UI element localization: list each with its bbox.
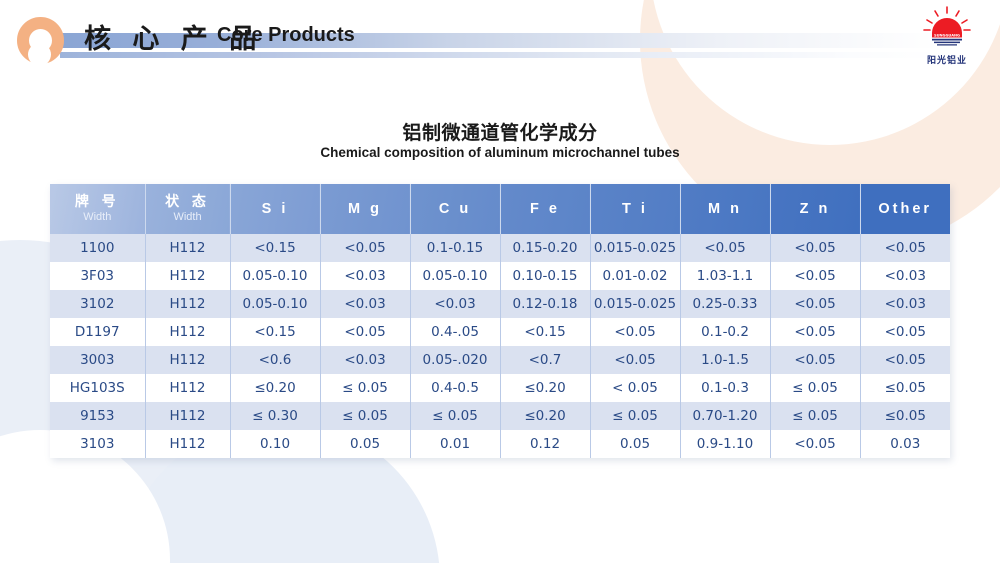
table-cell-si: 0.05-0.10 <box>230 290 320 318</box>
table-cell-other: <0.03 <box>860 290 950 318</box>
table-row: 9153H112≤ 0.30≤ 0.05≤ 0.05≤0.20≤ 0.050.7… <box>50 402 950 430</box>
table-cell-si: <0.15 <box>230 234 320 262</box>
table-cell-cu: 0.05-0.10 <box>410 262 500 290</box>
table-cell-si: ≤ 0.30 <box>230 402 320 430</box>
table-cell-zn: <0.05 <box>770 234 860 262</box>
ring-decoration-cutout <box>28 43 51 66</box>
table-row: HG103SH112≤0.20≤ 0.050.4-0.5≤0.20< 0.050… <box>50 374 950 402</box>
header-label-en: Width <box>50 212 145 224</box>
table-cell-ti: 0.015-0.025 <box>590 234 680 262</box>
composition-table-container: 牌 号Width状 态WidthS iM gC uF eT iM nZ nOth… <box>50 184 950 458</box>
table-cell-mg: <0.05 <box>320 234 410 262</box>
table-cell-ti: <0.05 <box>590 346 680 374</box>
table-cell-state: H112 <box>145 430 230 458</box>
table-cell-zn: ≤ 0.05 <box>770 402 860 430</box>
sun-dome-logo-icon: SUNGGUANG <box>915 6 979 52</box>
table-cell-zn: <0.05 <box>770 346 860 374</box>
table-cell-mg: <0.03 <box>320 262 410 290</box>
table-cell-brand: 3102 <box>50 290 145 318</box>
table-row: 3F03H1120.05-0.10<0.030.05-0.100.10-0.15… <box>50 262 950 290</box>
table-row: 1100H112<0.15<0.050.1-0.150.15-0.200.015… <box>50 234 950 262</box>
table-cell-ti: ≤ 0.05 <box>590 402 680 430</box>
table-cell-zn: <0.05 <box>770 318 860 346</box>
table-cell-mn: 0.1-0.3 <box>680 374 770 402</box>
table-row: 3003H112<0.6<0.030.05-.020<0.7<0.051.0-1… <box>50 346 950 374</box>
table-cell-mn: 0.9-1.10 <box>680 430 770 458</box>
table-cell-si: 0.05-0.10 <box>230 262 320 290</box>
table-cell-fe: 0.10-0.15 <box>500 262 590 290</box>
banner-title-en: Core Products <box>217 24 355 47</box>
table-header-row: 牌 号Width状 态WidthS iM gC uF eT iM nZ nOth… <box>50 184 950 234</box>
table-cell-fe: 0.12 <box>500 430 590 458</box>
table-cell-mn: 0.1-0.2 <box>680 318 770 346</box>
table-row: D1197H112<0.15<0.050.4-.05<0.15<0.050.1-… <box>50 318 950 346</box>
table-cell-mg: <0.05 <box>320 318 410 346</box>
table-cell-state: H112 <box>145 402 230 430</box>
table-header-cell-zn: Z n <box>770 184 860 234</box>
table-cell-mn: 1.0-1.5 <box>680 346 770 374</box>
table-cell-mn: 0.70-1.20 <box>680 402 770 430</box>
table-cell-zn: <0.05 <box>770 262 860 290</box>
table-cell-ti: < 0.05 <box>590 374 680 402</box>
table-header-cell-mn: M n <box>680 184 770 234</box>
table-cell-ti: 0.01-0.02 <box>590 262 680 290</box>
table-cell-mg: ≤ 0.05 <box>320 374 410 402</box>
table-cell-other: <0.05 <box>860 318 950 346</box>
page-title-cn: 铝制微通道管化学成分 <box>0 118 1000 145</box>
table-cell-state: H112 <box>145 234 230 262</box>
table-cell-other: ≤0.05 <box>860 374 950 402</box>
table-row: 3103H1120.100.050.010.120.050.9-1.10<0.0… <box>50 430 950 458</box>
table-cell-fe: <0.7 <box>500 346 590 374</box>
table-header-cell-mg: M g <box>320 184 410 234</box>
table-cell-brand: 9153 <box>50 402 145 430</box>
table-cell-si: ≤0.20 <box>230 374 320 402</box>
company-name-cn: 阳光铝业 <box>908 53 986 66</box>
table-cell-zn: <0.05 <box>770 430 860 458</box>
table-cell-other: <0.05 <box>860 346 950 374</box>
table-header-cell-state: 状 态Width <box>145 184 230 234</box>
table-cell-cu: 0.4-.05 <box>410 318 500 346</box>
table-cell-ti: <0.05 <box>590 318 680 346</box>
table-cell-si: <0.15 <box>230 318 320 346</box>
table-header-cell-brand: 牌 号Width <box>50 184 145 234</box>
table-cell-fe: 0.12-0.18 <box>500 290 590 318</box>
table-cell-brand: 3003 <box>50 346 145 374</box>
table-cell-si: 0.10 <box>230 430 320 458</box>
table-cell-cu: 0.1-0.15 <box>410 234 500 262</box>
header-label-en: Width <box>146 212 230 224</box>
table-cell-si: <0.6 <box>230 346 320 374</box>
table-body: 1100H112<0.15<0.050.1-0.150.15-0.200.015… <box>50 234 950 458</box>
table-row: 3102H1120.05-0.10<0.03<0.030.12-0.180.01… <box>50 290 950 318</box>
table-cell-state: H112 <box>145 262 230 290</box>
table-cell-mn: <0.05 <box>680 234 770 262</box>
table-cell-ti: 0.015-0.025 <box>590 290 680 318</box>
table-cell-other: ≤0.05 <box>860 402 950 430</box>
table-cell-state: H112 <box>145 318 230 346</box>
company-logo: SUNGGUANG 阳光铝业 <box>908 6 986 68</box>
table-cell-state: H112 <box>145 346 230 374</box>
table-cell-ti: 0.05 <box>590 430 680 458</box>
table-cell-fe: ≤0.20 <box>500 402 590 430</box>
table-cell-zn: <0.05 <box>770 290 860 318</box>
table-cell-cu: 0.05-.020 <box>410 346 500 374</box>
table-cell-mg: <0.03 <box>320 290 410 318</box>
table-cell-other: <0.05 <box>860 234 950 262</box>
slide-page: 红昌大传媒 传播 核 心 产 品 Core Products SUNGGUANG <box>0 0 1000 563</box>
logo-mark-text: SUNGGUANG <box>934 34 960 38</box>
table-cell-mg: <0.03 <box>320 346 410 374</box>
table-cell-brand: 3F03 <box>50 262 145 290</box>
table-cell-mn: 0.25-0.33 <box>680 290 770 318</box>
table-cell-state: H112 <box>145 374 230 402</box>
table-header: 牌 号Width状 态WidthS iM gC uF eT iM nZ nOth… <box>50 184 950 234</box>
table-cell-fe: ≤0.20 <box>500 374 590 402</box>
table-cell-cu: <0.03 <box>410 290 500 318</box>
table-cell-other: 0.03 <box>860 430 950 458</box>
table-cell-brand: 1100 <box>50 234 145 262</box>
table-cell-cu: 0.4-0.5 <box>410 374 500 402</box>
table-cell-mn: 1.03-1.1 <box>680 262 770 290</box>
table-cell-mg: 0.05 <box>320 430 410 458</box>
composition-table: 牌 号Width状 态WidthS iM gC uF eT iM nZ nOth… <box>50 184 950 458</box>
page-banner: 核 心 产 品 Core Products <box>0 0 1000 80</box>
table-cell-brand: 3103 <box>50 430 145 458</box>
table-cell-cu: ≤ 0.05 <box>410 402 500 430</box>
header-label-cn: 状 态 <box>146 195 230 210</box>
table-cell-fe: <0.15 <box>500 318 590 346</box>
table-header-cell-si: S i <box>230 184 320 234</box>
table-cell-brand: D1197 <box>50 318 145 346</box>
table-header-cell-fe: F e <box>500 184 590 234</box>
table-cell-cu: 0.01 <box>410 430 500 458</box>
table-cell-mg: ≤ 0.05 <box>320 402 410 430</box>
table-cell-brand: HG103S <box>50 374 145 402</box>
table-cell-zn: ≤ 0.05 <box>770 374 860 402</box>
page-title-en: Chemical composition of aluminum microch… <box>0 145 1000 160</box>
table-cell-state: H112 <box>145 290 230 318</box>
table-cell-other: <0.03 <box>860 262 950 290</box>
header-label-cn: 牌 号 <box>50 195 145 210</box>
table-cell-fe: 0.15-0.20 <box>500 234 590 262</box>
table-header-cell-cu: C u <box>410 184 500 234</box>
table-header-cell-other: Other <box>860 184 950 234</box>
table-header-cell-ti: T i <box>590 184 680 234</box>
